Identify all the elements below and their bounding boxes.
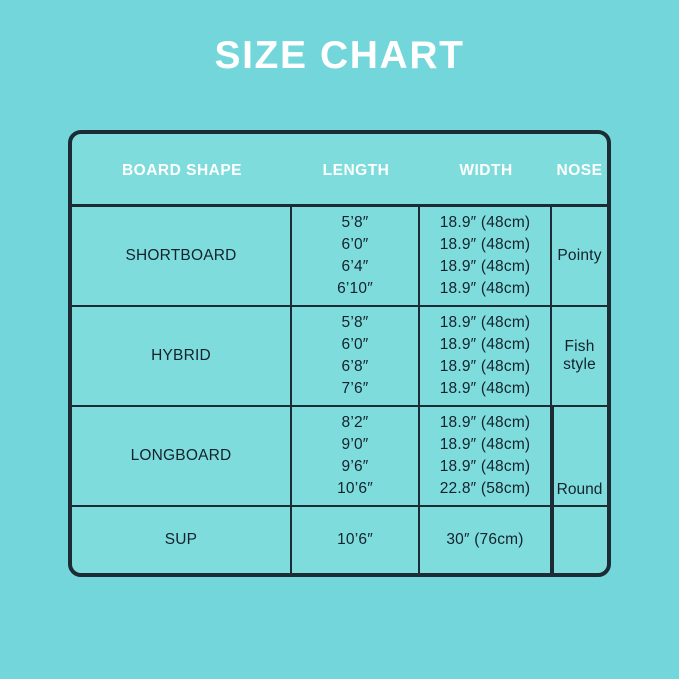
length-value: 5’8″ — [342, 312, 369, 334]
width-list: 30″ (76cm) — [446, 529, 523, 551]
width-value: 18.9″ (48cm) — [440, 256, 531, 278]
length-value: 9’0″ — [342, 434, 369, 456]
width-list: 18.9″ (48cm) 18.9″ (48cm) 18.9″ (48cm) 1… — [440, 312, 531, 400]
length-value: 9’6″ — [342, 456, 369, 478]
length-value: 6’0″ — [342, 234, 369, 256]
width-value: 18.9″ (48cm) — [440, 356, 531, 378]
column-header-board-shape: BOARD SHAPE — [72, 134, 292, 207]
cell-nose: Fish style — [552, 307, 607, 405]
cell-length: 8’2″ 9’0″ 9’6″ 10’6″ — [292, 407, 420, 505]
cell-width: 18.9″ (48cm) 18.9″ (48cm) 18.9″ (48cm) 2… — [420, 407, 552, 505]
cell-length: 5’8″ 6’0″ 6’4″ 6’10″ — [292, 207, 420, 305]
cell-nose: Pointy — [552, 207, 607, 305]
length-list: 8’2″ 9’0″ 9’6″ 10’6″ — [337, 412, 373, 500]
column-header-nose: NOSE — [552, 134, 607, 207]
cell-length: 5’8″ 6’0″ 6’8″ 7’6″ — [292, 307, 420, 405]
table-header-row: BOARD SHAPE LENGTH WIDTH NOSE — [72, 134, 607, 207]
length-value: 10’6″ — [337, 529, 373, 551]
cell-board-shape: SUP — [72, 507, 292, 573]
width-value: 18.9″ (48cm) — [440, 312, 531, 334]
length-value: 5’8″ — [342, 212, 369, 234]
column-header-width: WIDTH — [420, 134, 552, 207]
table-row: SHORTBOARD 5’8″ 6’0″ 6’4″ 6’10″ 18.9″ (4… — [72, 207, 607, 307]
length-value: 8’2″ — [342, 412, 369, 434]
table-grid: BOARD SHAPE LENGTH WIDTH NOSE SHORTBOARD… — [72, 134, 607, 573]
length-list: 5’8″ 6’0″ 6’4″ 6’10″ — [337, 212, 373, 300]
length-value: 6’0″ — [342, 334, 369, 356]
cell-board-shape: LONGBOARD — [72, 407, 292, 505]
table-row: HYBRID 5’8″ 6’0″ 6’8″ 7’6″ 18.9″ (48cm) … — [72, 307, 607, 407]
length-value: 6’10″ — [337, 278, 373, 300]
width-value: 18.9″ (48cm) — [440, 434, 531, 456]
width-value: 18.9″ (48cm) — [440, 212, 531, 234]
table-row: SUP 10’6″ 30″ (76cm) — [72, 507, 607, 573]
cell-board-shape: SHORTBOARD — [72, 207, 292, 305]
width-value: 18.9″ (48cm) — [440, 378, 531, 400]
table-row: LONGBOARD 8’2″ 9’0″ 9’6″ 10’6″ 18.9″ (48… — [72, 407, 607, 507]
width-value: 22.8″ (58cm) — [440, 478, 531, 500]
width-value: 18.9″ (48cm) — [440, 234, 531, 256]
cell-nose-merged: Round — [552, 407, 607, 573]
width-list: 18.9″ (48cm) 18.9″ (48cm) 18.9″ (48cm) 2… — [440, 412, 531, 500]
column-header-length: LENGTH — [292, 134, 420, 207]
cell-board-shape: HYBRID — [72, 307, 292, 405]
size-chart-table: BOARD SHAPE LENGTH WIDTH NOSE SHORTBOARD… — [68, 130, 611, 577]
width-list: 18.9″ (48cm) 18.9″ (48cm) 18.9″ (48cm) 1… — [440, 212, 531, 300]
size-chart-page: SIZE CHART BOARD SHAPE LENGTH WIDTH NOSE… — [0, 0, 679, 679]
width-value: 18.9″ (48cm) — [440, 334, 531, 356]
cell-width: 18.9″ (48cm) 18.9″ (48cm) 18.9″ (48cm) 1… — [420, 307, 552, 405]
length-value: 6’8″ — [342, 356, 369, 378]
width-value: 18.9″ (48cm) — [440, 278, 531, 300]
table-body: SHORTBOARD 5’8″ 6’0″ 6’4″ 6’10″ 18.9″ (4… — [72, 207, 607, 573]
width-value: 30″ (76cm) — [446, 529, 523, 551]
page-title: SIZE CHART — [0, 32, 679, 80]
length-list: 10’6″ — [337, 529, 373, 551]
length-value: 7’6″ — [342, 378, 369, 400]
width-value: 18.9″ (48cm) — [440, 456, 531, 478]
cell-length: 10’6″ — [292, 507, 420, 573]
cell-width: 30″ (76cm) — [420, 507, 552, 573]
length-list: 5’8″ 6’0″ 6’8″ 7’6″ — [342, 312, 369, 400]
cell-width: 18.9″ (48cm) 18.9″ (48cm) 18.9″ (48cm) 1… — [420, 207, 552, 305]
length-value: 10’6″ — [337, 478, 373, 500]
width-value: 18.9″ (48cm) — [440, 412, 531, 434]
length-value: 6’4″ — [342, 256, 369, 278]
